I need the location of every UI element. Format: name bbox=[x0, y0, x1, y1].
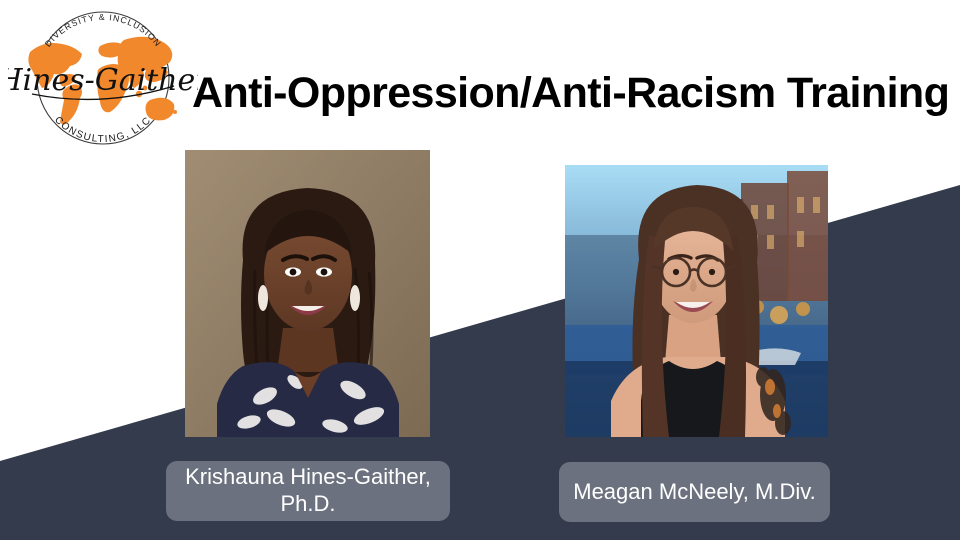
page-title: Anti-Oppression/Anti-Racism Training bbox=[192, 70, 954, 117]
logo-script-wordmark: Hines-Gaither bbox=[8, 63, 198, 98]
hines-gaither-logo: DIVERSITY & INCLUSION CONSULTING, LLC Hi… bbox=[8, 2, 198, 150]
presenter-name-2: Meagan McNeely, M.Div. bbox=[573, 479, 815, 506]
presenter-photo-2 bbox=[565, 165, 828, 437]
presenter-name-1: Krishauna Hines-Gaither, Ph.D. bbox=[176, 464, 440, 518]
presenter-name-caption-2: Meagan McNeely, M.Div. bbox=[559, 462, 830, 522]
presenter-photo-1 bbox=[185, 150, 430, 437]
presentation-slide: DIVERSITY & INCLUSION CONSULTING, LLC Hi… bbox=[0, 0, 960, 540]
presenter-name-caption-1: Krishauna Hines-Gaither, Ph.D. bbox=[166, 461, 450, 521]
